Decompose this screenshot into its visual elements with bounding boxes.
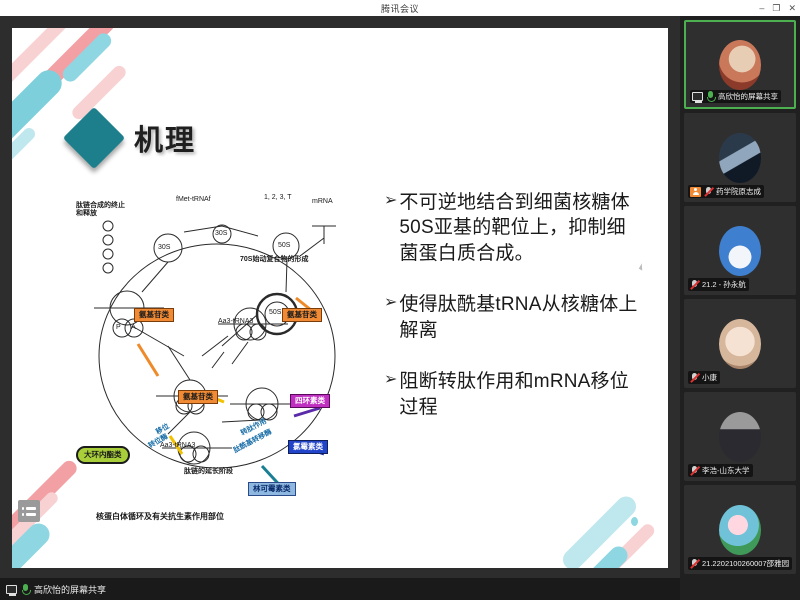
diamond-holder	[68, 112, 120, 164]
participant-tile[interactable]: 21.2 - 孙永航	[684, 206, 796, 295]
participant-rail[interactable]: 高欣怡的屏幕共享 药学院原志成 21.2 - 孙永航 小康	[680, 16, 800, 600]
diagram-box-aminoglycoside: 氨基苷类	[134, 308, 174, 322]
diagram-label: P	[116, 324, 121, 332]
list-menu-icon[interactable]	[18, 500, 40, 522]
participant-tile[interactable]: 21.2202100260007邵雅园	[684, 485, 796, 574]
participant-name: 药学院原志成	[716, 186, 761, 197]
avatar	[719, 319, 761, 369]
microphone-on-icon[interactable]	[21, 584, 30, 595]
microphone-off-icon	[690, 373, 699, 383]
avatar	[719, 226, 761, 276]
diagram-label: A	[131, 324, 136, 332]
participant-tile[interactable]: 李浩-山东大学	[684, 392, 796, 481]
diagram-box-lincomycin: 林可霉素类	[248, 482, 296, 496]
diagram-caption: 核蛋白体循环及有关抗生素作用部位	[96, 511, 224, 522]
close-button[interactable]: ✕	[788, 4, 796, 13]
bullet-item: ➢ 使得肽酰基tRNA从核糖体上解离	[384, 292, 644, 343]
bullet-item: ➢ 阻断转肽作用和mRNA移位过程	[384, 369, 644, 420]
diagram-label: 30S	[215, 230, 227, 238]
menu-icon-row	[22, 513, 36, 516]
participant-name: 小康	[702, 372, 717, 383]
participant-tile[interactable]: 药学院原志成	[684, 113, 796, 202]
microphone-on-icon	[706, 91, 715, 102]
participant-name: 高欣怡的屏幕共享	[718, 91, 778, 102]
diagram-label: 70S始动复合物的形成	[240, 256, 308, 264]
avatar	[719, 133, 761, 183]
diagram-box-chloramphenicol: 氯霉素类	[288, 440, 328, 454]
avatar	[719, 412, 761, 462]
diagram-box-aminoglycoside: 氨基苷类	[282, 308, 322, 322]
diagram-label: 肽链的延长阶段	[184, 468, 233, 476]
slide-bullet-list: ➢ 不可逆地结合到细菌核糖体50S亚基的靶位上，抑制细菌蛋白质合成。 ➢ 使得肽…	[384, 190, 644, 446]
decor-dot-cyan	[631, 517, 638, 526]
bullet-arrow-icon: ➢	[384, 369, 397, 420]
slide-title-group: 机理	[68, 112, 196, 164]
diagram-label: 1, 2, 3, T	[264, 194, 292, 202]
participant-nameplate: 李浩-山东大学	[688, 464, 753, 477]
menu-icon-row	[22, 507, 36, 510]
diagram-box-tetracycline: 四环素类	[290, 394, 330, 408]
diagram-box-macrolide: 大环内酯类	[76, 446, 130, 464]
participant-name: 21.2 - 孙永航	[702, 279, 746, 290]
diagram-label: Aa3-tRNA3	[218, 318, 253, 326]
shared-screen-stage[interactable]: 机理	[0, 16, 680, 600]
ribosome-cycle-diagram: 肽链合成的终止和释放 fMet-tRNAf 1, 2, 3, T mRNA 70…	[72, 196, 362, 536]
avatar	[719, 505, 761, 555]
diagram-label: 50S	[278, 242, 290, 250]
bullet-arrow-icon: ➢	[384, 292, 397, 343]
diagram-label: 30S	[158, 244, 170, 252]
presentation-slide: 机理	[12, 28, 668, 568]
microphone-off-icon	[690, 559, 699, 569]
avatar	[719, 40, 761, 90]
window-titlebar: 腾讯会议 – ❐ ✕	[0, 0, 800, 16]
share-status-label: 高欣怡的屏幕共享	[34, 583, 106, 596]
meeting-window: 腾讯会议 – ❐ ✕	[0, 0, 800, 600]
diagram-label: 肽链合成的终止和释放	[76, 202, 130, 217]
participant-nameplate: 21.2 - 孙永航	[688, 278, 749, 291]
minimize-button[interactable]: –	[759, 4, 764, 13]
diagram-label: fMet-tRNAf	[176, 196, 211, 204]
screen-share-icon	[692, 92, 703, 101]
window-controls: – ❐ ✕	[759, 0, 796, 16]
microphone-off-icon	[690, 466, 699, 476]
diagram-label: mRNA	[312, 198, 333, 206]
participant-nameplate: 小康	[688, 371, 720, 384]
diagram-label: Aa3-tRNA3	[160, 442, 195, 450]
participant-nameplate: 药学院原志成	[688, 185, 764, 198]
teal-diamond-icon	[63, 107, 125, 169]
microphone-off-icon	[690, 280, 699, 290]
bullet-arrow-icon: ➢	[384, 190, 397, 266]
host-badge-icon	[690, 187, 701, 197]
participant-tile[interactable]: 高欣怡的屏幕共享	[684, 20, 796, 109]
participant-nameplate: 21.2202100260007邵雅园	[688, 557, 792, 570]
window-title: 腾讯会议	[381, 2, 419, 15]
maximize-button[interactable]: ❐	[772, 4, 780, 13]
participant-name: 21.2202100260007邵雅园	[702, 558, 789, 569]
bullet-text: 不可逆地结合到细菌核糖体50S亚基的靶位上，抑制细菌蛋白质合成。	[399, 190, 644, 266]
participant-name: 李浩-山东大学	[702, 465, 750, 476]
bullet-text: 使得肽酰基tRNA从核糖体上解离	[399, 292, 644, 343]
page-title: 机理	[134, 117, 196, 159]
screen-share-statusbar: 高欣怡的屏幕共享	[0, 578, 680, 600]
diagram-box-aminoglycoside: 氨基苷类	[178, 390, 218, 404]
bullet-text: 阻断转肽作用和mRNA移位过程	[399, 369, 644, 420]
participant-tile[interactable]: 小康	[684, 299, 796, 388]
diagram-label: 50S	[269, 309, 281, 317]
screen-share-icon	[6, 585, 17, 594]
microphone-off-icon	[704, 187, 713, 197]
bullet-item: ➢ 不可逆地结合到细菌核糖体50S亚基的靶位上，抑制细菌蛋白质合成。	[384, 190, 644, 266]
participant-nameplate: 高欣怡的屏幕共享	[690, 90, 781, 103]
